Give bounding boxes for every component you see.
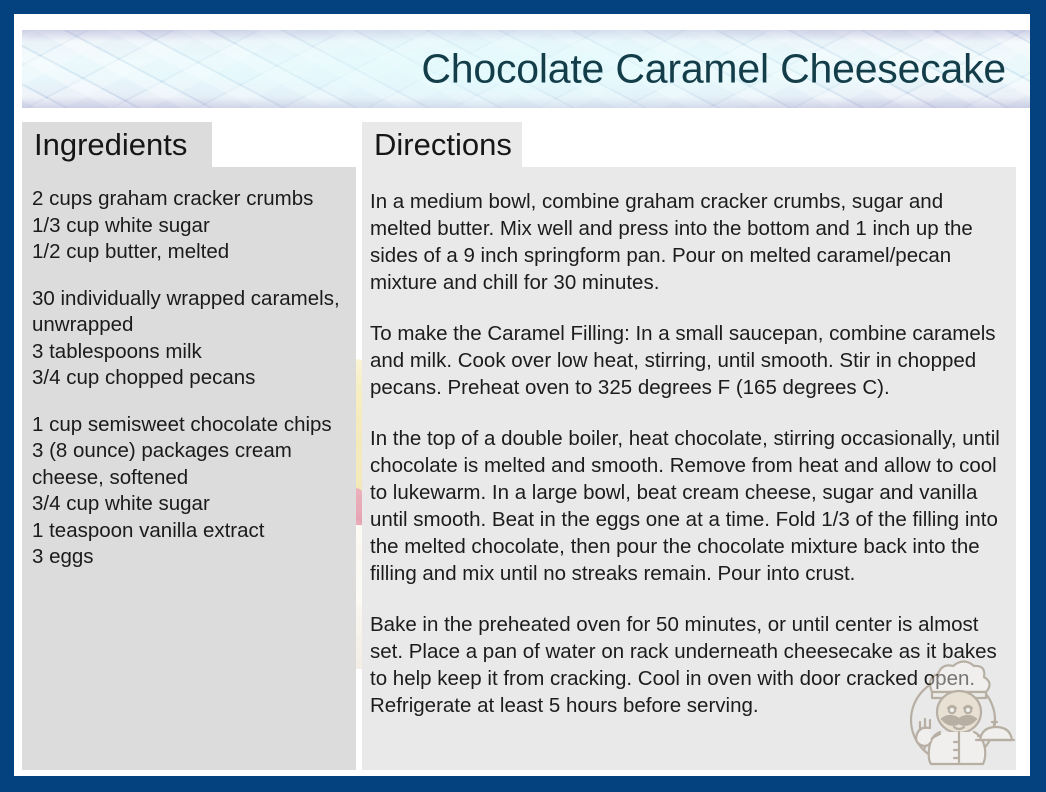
ingredients-group: 30 individually wrapped caramels, unwrap… [32,286,346,392]
page-title: Chocolate Caramel Cheesecake [421,49,1006,90]
ingredient-item: 2 cups graham cracker crumbs [32,186,346,213]
frame-border-top [0,0,1046,14]
ingredient-item: 3/4 cup white sugar [32,491,346,518]
ingredient-item: 3 tablespoons milk [32,339,346,366]
ingredients-list: 2 cups graham cracker crumbs 1/3 cup whi… [22,186,356,571]
ingredient-item: 30 individually wrapped caramels, unwrap… [32,286,346,339]
ingredient-item: 1 cup semisweet chocolate chips [32,412,346,439]
ingredients-group: 1 cup semisweet chocolate chips 3 (8 oun… [32,412,346,571]
ingredient-item: 1/3 cup white sugar [32,213,346,240]
frame-border-bottom [0,776,1046,792]
ingredient-item: 3 (8 ounce) packages cream cheese, softe… [32,438,346,491]
ingredient-item: 1 teaspoon vanilla extract [32,518,346,545]
ingredients-group: 2 cups graham cracker crumbs 1/3 cup whi… [32,186,346,266]
ingredient-item: 3 eggs [32,544,346,571]
title-banner: Chocolate Caramel Cheesecake [22,30,1030,108]
ingredients-heading: Ingredients [22,122,212,167]
frame-border-right [1030,0,1046,792]
ingredient-item: 1/2 cup butter, melted [32,239,346,266]
direction-paragraph: In the top of a double boiler, heat choc… [370,425,1004,587]
frame-border-left [0,0,14,792]
ingredient-item: 3/4 cup chopped pecans [32,365,346,392]
directions-text: In a medium bowl, combine graham cracker… [362,188,1016,719]
direction-paragraph: In a medium bowl, combine graham cracker… [370,188,1004,296]
recipe-slide: Chocolate Caramel Cheesecake [0,0,1046,792]
direction-paragraph: Bake in the preheated oven for 50 minute… [370,611,1004,719]
direction-paragraph: To make the Caramel Filling: In a small … [370,320,1004,401]
directions-heading: Directions [362,122,522,167]
